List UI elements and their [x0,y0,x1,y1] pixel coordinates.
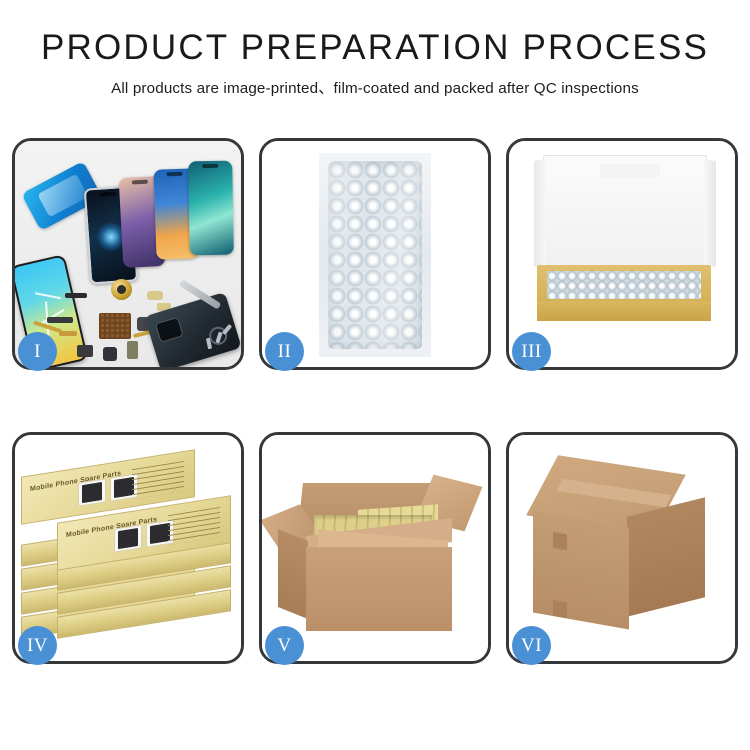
step-5-image [262,435,488,661]
page-title: PRODUCT PREPARATION PROCESS [0,28,750,67]
notch-icon [202,164,218,168]
process-steps-grid: I II III [12,138,738,696]
step-panel-3: III [506,138,738,370]
step-panel-2: II [259,138,491,370]
screen-swatch-icon [78,478,106,506]
spare-part-icon [77,345,93,357]
step-panel-1: I [12,138,244,370]
step-panel-4: Mobile Phone Spare Parts Mobile Phone Sp… [12,432,244,664]
step-3-image [509,141,735,367]
tray-front-panel-icon [537,301,711,321]
box-label-text: Mobile Phone Spare Parts [30,470,121,493]
screen-swatch-icon [114,524,142,552]
carton-body-icon [306,547,452,631]
spare-part-icon [47,317,73,323]
chip-grid-icon [99,313,131,339]
packing-tape-icon [553,532,567,550]
step-badge-3: III [512,332,551,371]
spec-lines-icon [168,507,220,545]
sealed-carton-front-icon [533,511,629,630]
box-label-text: Mobile Phone Spare Parts [66,516,157,539]
page-subtitle: All products are image-printed、film-coat… [0,76,750,98]
phone-screen-icon [188,161,234,256]
kraft-tray-icon [537,265,711,321]
step-panel-6: VI [506,432,738,664]
step-badge-6: VI [512,626,551,665]
product-preparation-infographic: PRODUCT PREPARATION PROCESS All products… [0,0,750,750]
spare-part-icon [127,341,138,359]
header: PRODUCT PREPARATION PROCESS All products… [0,28,750,98]
notch-icon [132,180,148,185]
white-box-lid-icon [543,155,707,275]
lid-flap-icon [600,164,660,178]
step-badge-2: II [265,332,304,371]
box-stack: Mobile Phone Spare Parts Mobile Phone Sp… [21,453,233,649]
carton-side-icon [278,529,308,619]
spare-part-icon [103,347,117,361]
spare-part-icon [147,291,163,300]
spec-lines-icon [132,461,184,499]
step-badge-1: I [18,332,57,371]
speaker-coil-icon [111,279,132,300]
bubble-wrapped-contents-icon [547,271,701,299]
spare-part-icon [65,293,87,298]
step-panel-5: V [259,432,491,664]
notch-icon [167,172,183,177]
step-badge-5: V [265,626,304,665]
bubble-wrap-icon [328,161,422,349]
step-6-image [509,435,735,661]
step-2-image [262,141,488,367]
packing-tape-icon [553,600,567,618]
notch-icon [100,192,116,197]
step-4-image: Mobile Phone Spare Parts Mobile Phone Sp… [15,435,241,661]
sealed-carton-side-icon [627,497,705,616]
step-badge-4: IV [18,626,57,665]
step-1-image [15,141,241,367]
crack-line-icon [35,292,61,298]
